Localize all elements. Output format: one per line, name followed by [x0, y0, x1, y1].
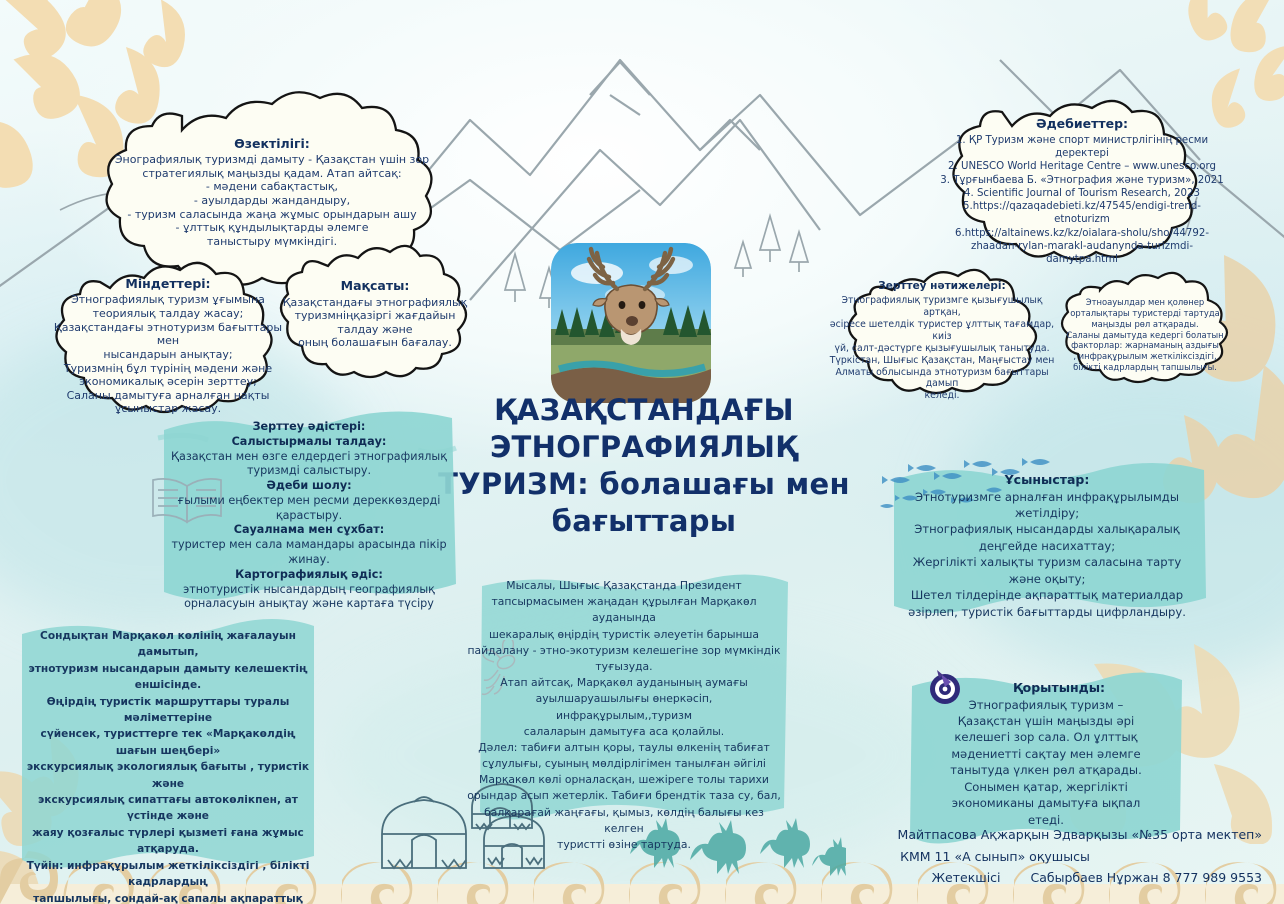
cloud-literature-text: Әдебиеттер: 1. ҚР Туризм және спорт мини…: [922, 106, 1242, 277]
panel-methods-title: Зерттеу әдістері:: [162, 420, 456, 435]
panel-conclusion-text: Қорытынды: Этнографиялық туризм – Қазақс…: [918, 680, 1174, 828]
panel-suggestions-body: Этнотуризмге арналған инфрақұрылымды жет…: [896, 489, 1198, 621]
footer: Майтпасова Ақжарқын Эдварқызы «№35 орта …: [782, 824, 1262, 888]
cloud-tasks-title: Міндеттері:: [50, 276, 286, 292]
cloud-results-text: Зерттеу нәтижелері: Этнографиялық туризм…: [825, 276, 1059, 406]
method-head: Картографиялық әдіс:: [162, 568, 456, 583]
page-title: ҚАЗАҚСТАНДАҒЫ ЭТНОГРАФИЯЛЫҚ ТУРИЗМ: бола…: [404, 392, 884, 540]
cloud-relevance-body: Энографиялық туризмді дамыту - Қазақстан…: [115, 153, 429, 248]
cloud-results-secondary: Этноауылдар мен қолөнер орталықтары тури…: [1042, 280, 1248, 390]
deer-photo-art: [551, 243, 711, 403]
panel-suggestions: Ұсыныстар: Этнотуризмге арналған инфрақұ…: [888, 460, 1206, 620]
cloud-relevance: Өзектілігі: Энографиялық туризмді дамыту…: [62, 112, 482, 272]
cloud-tasks-body: Этнографиялық туризм ұғымына теориялық т…: [54, 293, 282, 415]
cloud-literature-body: 1. ҚР Туризм және спорт министрлігінің р…: [940, 135, 1223, 265]
panel-methods-text: Зерттеу әдістері: Салыстырмалы талдау: Қ…: [162, 420, 456, 612]
panel-suggestions-title: Ұсыныстар:: [896, 472, 1198, 489]
page-title-line-3: ТУРИЗМ: болашағы мен: [404, 466, 884, 503]
cloud-goal-title: Мақсаты:: [280, 278, 470, 294]
method-item: Сауалнама мен сұхбат: туристер мен сала …: [162, 523, 456, 567]
footer-supervisor-value: Сабырбаев Нұржан 8 777 989 9553: [1030, 870, 1262, 885]
method-head: Әдеби шолу:: [162, 479, 456, 494]
panel-center-bottom: Мысалы, Шығыс Қазақстанда Президент тапс…: [452, 572, 792, 822]
cloud-relevance-text: Өзектілігі: Энографиялық туризмді дамыту…: [68, 126, 476, 259]
deer-photo: [551, 243, 711, 403]
page-title-line-1: ҚАЗАҚСТАНДАҒЫ: [404, 392, 884, 429]
footer-line-3: Жетекшісі Сабырбаев Нұржан 8 777 989 955…: [782, 867, 1262, 888]
footer-line-2: КММ 11 «А сынып» оқушысы: [782, 846, 1262, 867]
cloud-literature: Әдебиеттер: 1. ҚР Туризм және спорт мини…: [922, 110, 1242, 272]
cloud-results-title: Зерттеу нәтижелері:: [829, 280, 1055, 293]
footer-supervisor-label: Жетекшісі: [932, 870, 1001, 885]
panel-methods: Зерттеу әдістері: Салыстырмалы талдау: Қ…: [156, 408, 462, 608]
cloud-goal-body: Қазақстандағы этнографиялық туризмніңқаз…: [283, 296, 468, 350]
method-item: Салыстырмалы талдау: Қазақстан мен өзге …: [162, 435, 456, 479]
cloud-results2-text: Этноауылдар мен қолөнер орталықтары тури…: [1044, 293, 1246, 377]
method-item: Әдеби шолу: ғылыми еңбектер мен ресми де…: [162, 479, 456, 523]
method-head: Сауалнама мен сұхбат:: [162, 523, 456, 538]
panel-conclusion-body: Этнографиялық туризм – Қазақстан үшін ма…: [918, 697, 1174, 829]
method-text: этнотуристік нысандардың географиялық ор…: [162, 583, 456, 613]
panel-suggestions-text: Ұсыныстар: Этнотуризмге арналған инфрақұ…: [896, 472, 1198, 620]
method-text: ғылыми еңбектер мен ресми дереккөздерді …: [162, 494, 456, 524]
panel-center-bottom-body: Мысалы, Шығыс Қазақстанда Президент тапс…: [466, 578, 782, 853]
cloud-results: Зерттеу нәтижелері: Этнографиялық туризм…: [824, 278, 1060, 404]
method-text: Қазақстан мен өзге елдердегі этнографиял…: [162, 450, 456, 480]
cloud-literature-title: Әдебиеттер:: [940, 116, 1224, 132]
page-title-line-2: ЭТНОГРАФИЯЛЫҚ: [404, 429, 884, 466]
panel-conclusion-title: Қорытынды:: [918, 680, 1174, 697]
cloud-relevance-title: Өзектілігі:: [86, 136, 458, 152]
method-text: туристер мен сала мамандары арасында пік…: [162, 538, 456, 568]
method-head: Салыстырмалы талдау:: [162, 435, 456, 450]
panel-left-bottom-body: Сондықтан Марқакөл көлінің жағалауын дам…: [22, 628, 314, 904]
method-item: Картографиялық әдіс: этнотуристік нысанд…: [162, 568, 456, 612]
cloud-results2-body: Этноауылдар мен қолөнер орталықтары тури…: [1066, 297, 1223, 373]
panel-conclusion: Қорытынды: Этнографиялық туризм – Қазақс…: [900, 672, 1190, 848]
page-title-line-4: бағыттары: [404, 503, 884, 540]
cloud-results-body: Этнографиялық туризмге қызығушылық артқа…: [830, 295, 1055, 401]
poster-canvas: Өзектілігі: Энографиялық туризмді дамыту…: [0, 0, 1284, 904]
panel-left-bottom: Сондықтан Марқакөл көлінің жағалауын дам…: [18, 618, 318, 870]
cloud-goal-text: Мақсаты: Қазақстандағы этнографиялық тур…: [262, 268, 488, 360]
